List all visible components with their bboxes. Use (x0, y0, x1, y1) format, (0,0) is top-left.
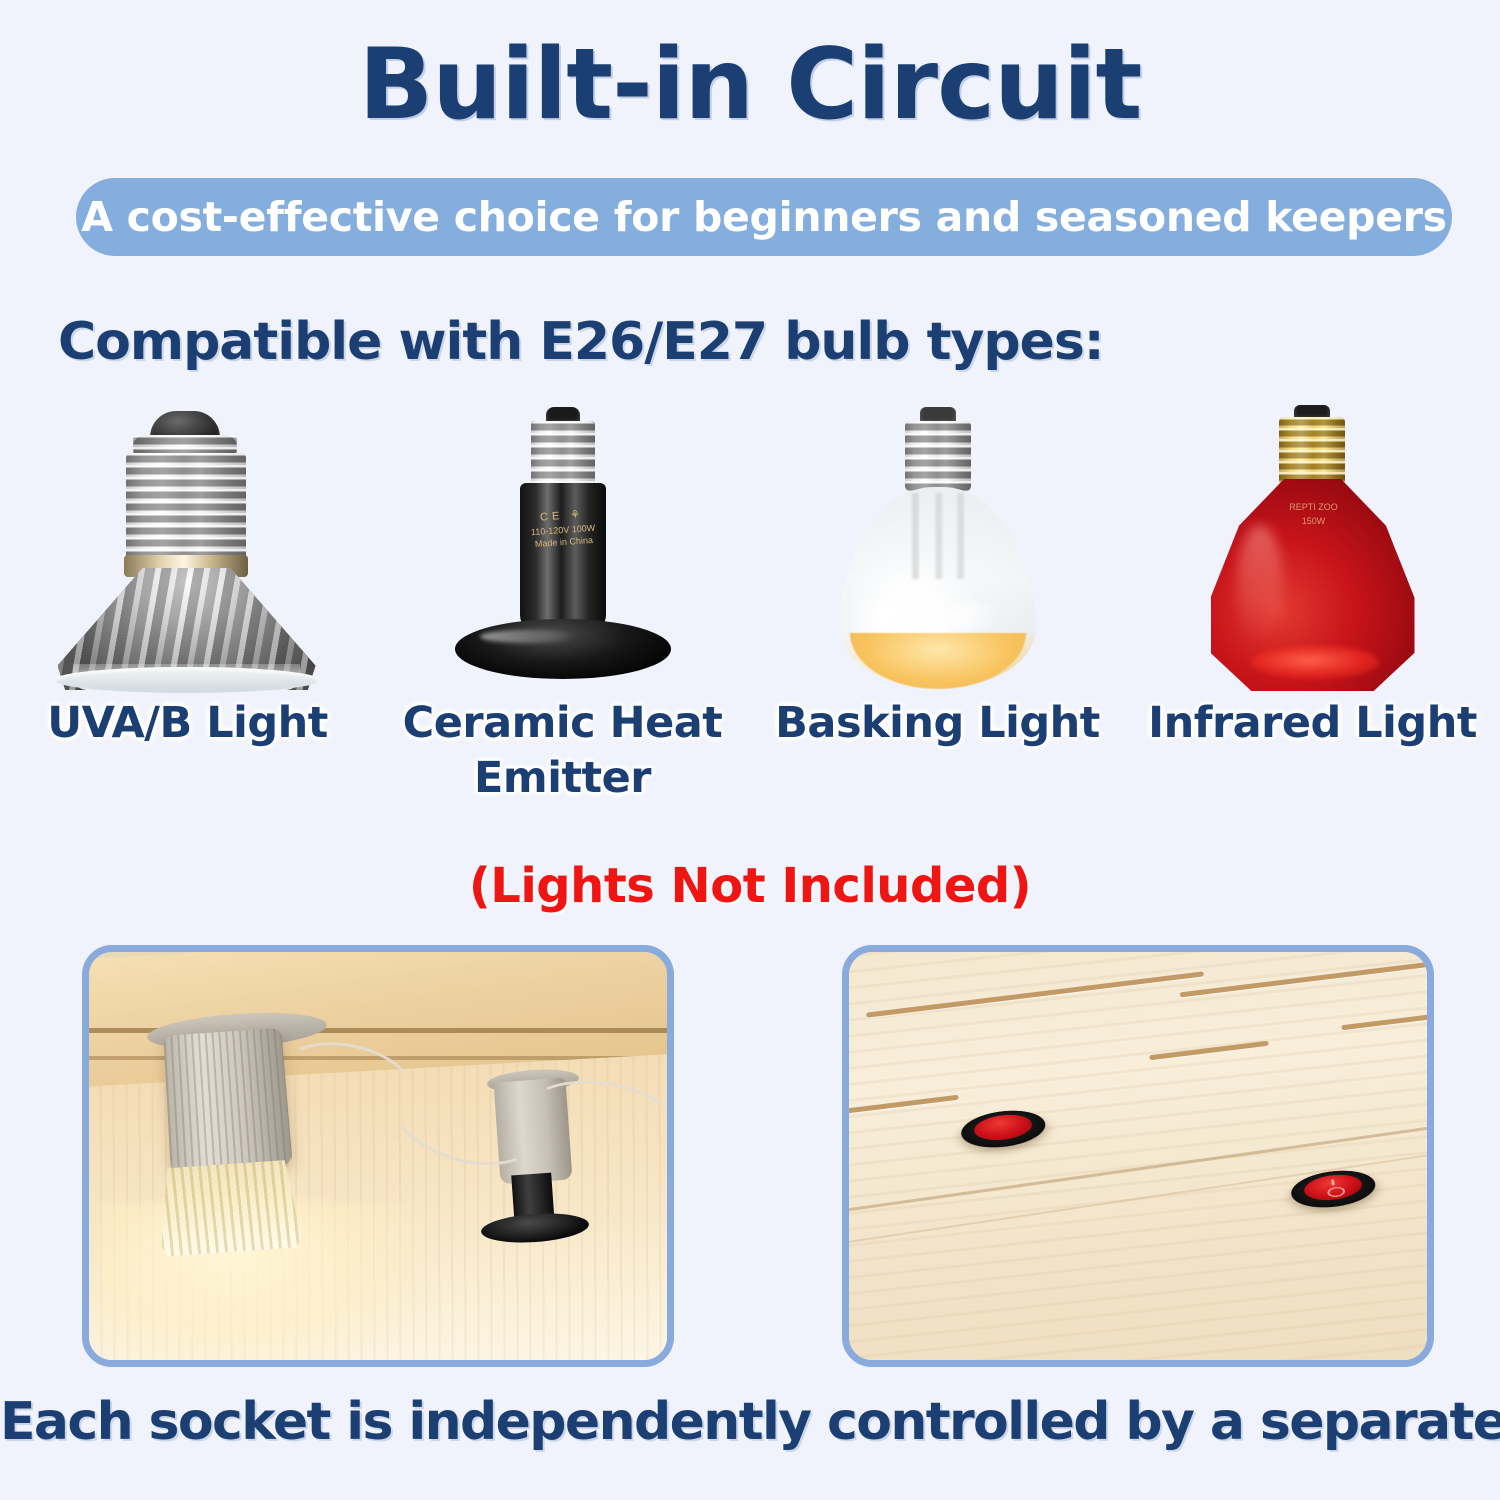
bulb-wattage-text: 150W (1259, 515, 1369, 529)
photo-content (89, 952, 667, 1360)
bulb-label-uva-b: UVA/B Light (47, 696, 328, 751)
subtitle-text: A cost-effective choice for beginners an… (81, 193, 1447, 241)
photo-content (849, 952, 1427, 1360)
power-off-mark-icon (1327, 1186, 1346, 1198)
bulb-item-infrared-light: REPTI ZOO 150W Infrared Light (1125, 405, 1500, 845)
bulb-item-basking-light: Basking Light (750, 405, 1125, 845)
red-infrared-bulb-icon: REPTI ZOO 150W (1163, 405, 1463, 690)
e27-screw-base (905, 421, 971, 491)
bulb-highlight (1237, 525, 1283, 643)
subtitle-banner: A cost-effective choice for beginners an… (76, 178, 1452, 256)
enclosure-interior-sockets-photo (82, 945, 674, 1367)
lights-not-included-note: (Lights Not Included) (0, 858, 1500, 914)
power-on-mark-icon (1331, 1179, 1335, 1185)
bulb-highlight (870, 601, 928, 635)
emitter-body (520, 483, 606, 633)
footer-caption: Each socket is independently controlled … (0, 1392, 1500, 1452)
bulb-bottom-highlight (1251, 645, 1379, 679)
bulb-label-basking-light: Basking Light (775, 696, 1100, 751)
infographic-page: Built-in Circuit A cost-effective choice… (0, 0, 1500, 1500)
bulb-filament (896, 493, 980, 579)
e27-screw-base (531, 421, 595, 487)
halogen-reflector-bulb-icon (38, 405, 338, 690)
e27-screw-base (126, 453, 246, 561)
ceramic-socket-left (163, 1028, 292, 1175)
bulb-warm-glow (850, 633, 1026, 689)
emitter-flared-base (455, 619, 671, 679)
bulb-glass-rim (54, 667, 320, 693)
compatibility-heading: Compatible with E26/E27 bulb types: (58, 312, 1104, 372)
wood-top-panel (849, 952, 1427, 1360)
bulb-item-ceramic-heat-emitter: CE ⚘ 110-120V 100W Made in China Ceramic… (375, 405, 750, 845)
frosted-basking-bulb-icon (788, 405, 1088, 690)
ceramic-heat-emitter-icon: CE ⚘ 110-120V 100W Made in China (413, 405, 713, 690)
bulb-highlight-secondary (950, 603, 996, 631)
rocker-cap[interactable] (1303, 1172, 1365, 1203)
emitter-markings: CE ⚘ 110-120V 100W Made in China (518, 506, 607, 551)
lit-basking-bulb (156, 1159, 302, 1257)
rocker-cap[interactable] (973, 1112, 1035, 1143)
e27-brass-screw-base (1279, 417, 1345, 485)
enclosure-top-switches-photo (842, 945, 1434, 1367)
bulb-type-list: UVA/B Light CE ⚘ 110-120V 100W Made in C… (0, 405, 1500, 845)
page-title: Built-in Circuit (0, 36, 1500, 134)
bulb-brand-text: REPTI ZOO (1259, 501, 1369, 515)
bulb-label-infrared-light: Infrared Light (1148, 696, 1477, 751)
bulb-item-uva-b: UVA/B Light (0, 405, 375, 845)
bulb-brand-markings: REPTI ZOO 150W (1259, 501, 1369, 528)
bulb-label-ceramic-heat-emitter: Ceramic Heat Emitter (375, 696, 750, 806)
